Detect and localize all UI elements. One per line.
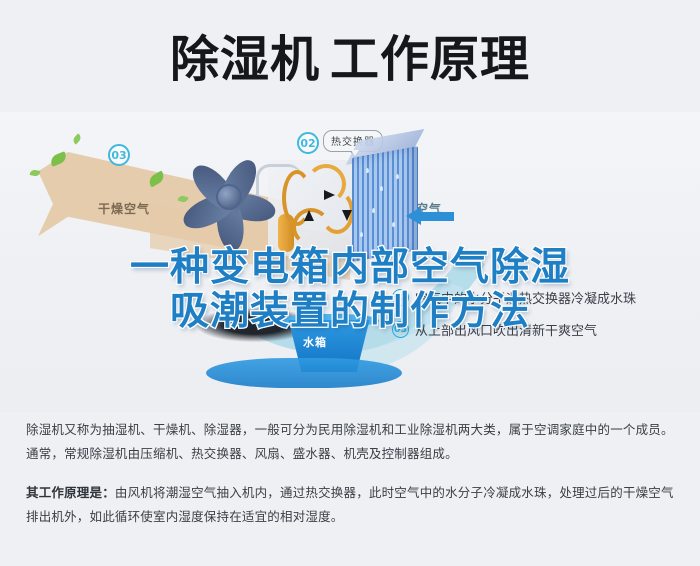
principle-diagram: 03 02 01 热交换器 干燥空气 潮湿空气 — [0, 112, 700, 412]
step-description-list: 02 空气中的水分子遇热交换器冷凝成水珠 03 从上部出风口吹出清新干爽空气 — [392, 288, 692, 352]
air-intake-arrow — [420, 212, 454, 221]
water-droplet-icon — [366, 168, 369, 173]
water-droplet-icon — [372, 208, 375, 213]
article-body: 除湿机又称为抽湿机、干燥机、除湿器，一般可分为民用除湿机和工业除湿机两大类，属于… — [0, 418, 700, 530]
step-number: 02 — [392, 289, 409, 306]
paragraph-1-line-2: 通常，常规除湿机由压缩机、热交换器、风扇、盛水器、机壳及控制器组成。 — [26, 446, 458, 461]
page-title: 除湿机工作原理 — [170, 35, 530, 84]
heat-exchanger-fins — [352, 146, 418, 262]
fan-illustration — [180, 150, 292, 254]
arrow-up-icon — [304, 210, 314, 221]
step-text: 从上部出风口吹出清新干爽空气 — [415, 320, 597, 339]
arrow-down-icon — [342, 210, 352, 221]
water-droplet-icon — [396, 174, 399, 179]
paragraph-1-line-1: 除湿机又称为抽湿机、干燥机、除湿器，一般可分为民用除湿机和工业除湿机两大类，属于… — [26, 422, 674, 437]
step-badge-02: 02 — [297, 132, 319, 154]
water-droplet-icon — [392, 222, 395, 227]
arrow-right-icon — [324, 190, 335, 200]
paragraph-2-line-2: 排出机外，如此循环使室内湿度保持在适宜的相对湿度。 — [26, 509, 344, 524]
unit-base — [206, 358, 402, 388]
water-droplet-icon — [360, 232, 363, 237]
step-item: 03 从上部出风口吹出清新干爽空气 — [392, 320, 692, 339]
step-item: 02 空气中的水分子遇热交换器冷凝成水珠 — [392, 288, 692, 307]
page-title-part1: 除湿机 — [170, 31, 320, 88]
paragraph-1: 除湿机又称为抽湿机、干燥机、除湿器，一般可分为民用除湿机和工业除湿机两大类，属于… — [26, 418, 674, 467]
paragraph-2-line-1: 由风机将潮湿空气抽入机内，通过热交换器，此时空气中的水分子冷凝成水珠，处理过后的… — [115, 485, 674, 500]
page-root: 除湿机工作原理 03 02 01 热交换器 干燥空气 潮湿空气 — [0, 0, 700, 566]
paragraph-2-lead: 其工作原理是： — [26, 485, 115, 500]
header-banner: 除湿机工作原理 — [0, 0, 700, 118]
section-divider — [0, 408, 700, 409]
leaf-icon — [71, 133, 82, 144]
step-badge-03: 03 — [108, 144, 130, 166]
fan-hub — [216, 184, 242, 210]
water-droplet-icon — [380, 186, 383, 191]
water-tank-label: 水箱 — [303, 334, 327, 350]
page-title-part2: 工作原理 — [330, 31, 530, 88]
paragraph-2: 其工作原理是：由风机将潮湿空气抽入机内，通过热交换器，此时空气中的水分子冷凝成水… — [26, 481, 674, 530]
step-number: 03 — [392, 321, 409, 338]
dry-air-label: 干燥空气 — [98, 200, 150, 217]
step-text: 空气中的水分子遇热交换器冷凝成水珠 — [415, 288, 636, 307]
leaf-icon — [29, 169, 40, 177]
